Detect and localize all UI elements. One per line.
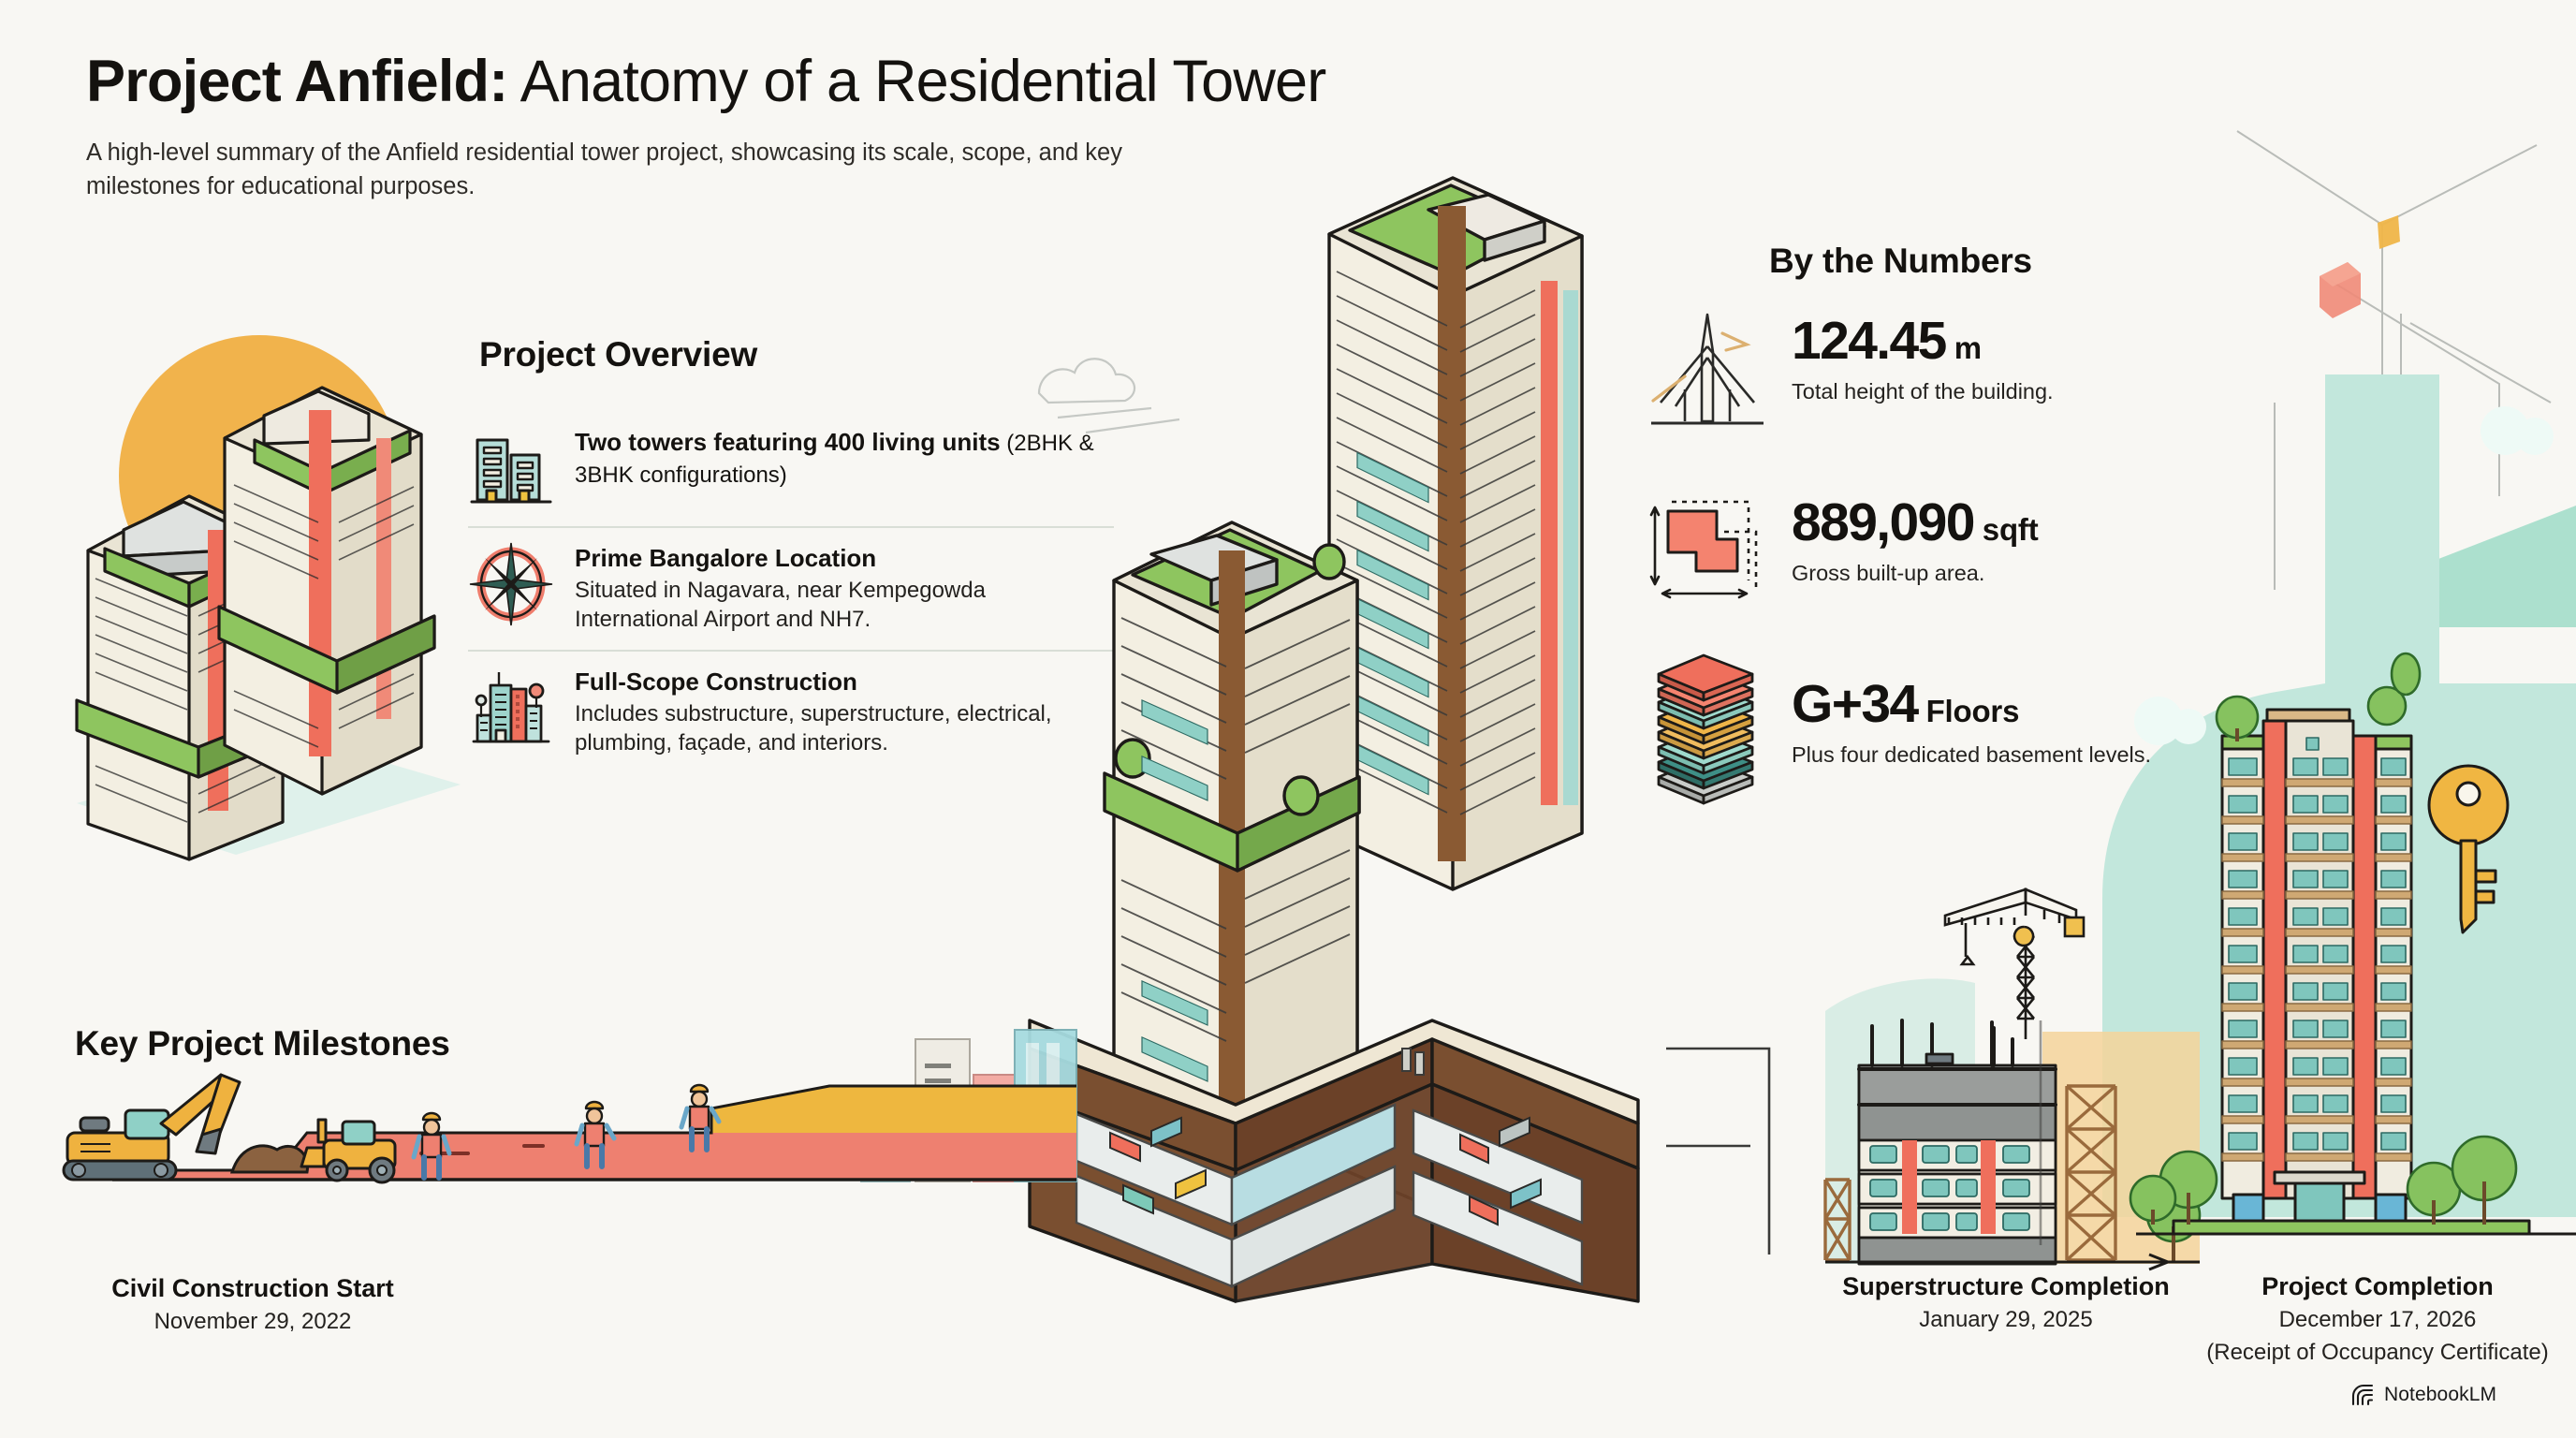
number-value-figure: 124.45: [1792, 311, 1946, 371]
infographic-canvas: Project Anfield: Anatomy of a Residentia…: [0, 0, 2576, 1438]
watermark-label: NotebookLM: [2384, 1384, 2496, 1406]
number-value-unit: sqft: [1974, 512, 2039, 547]
milestone-label-superstructure: Superstructure Completion January 29, 20…: [1833, 1271, 2179, 1334]
overview-item-location: Prime Bangalore Location Situated in Nag…: [468, 526, 1114, 650]
number-value-figure: G+34: [1792, 674, 1918, 734]
milestone-date: December 17, 2026: [2181, 1306, 2574, 1334]
number-item-text: G+34 Floors Plus four dedicated basement…: [1792, 672, 2151, 769]
central-tower-cutaway-illustration: [1020, 178, 1732, 1301]
spire-tower-icon: [1647, 309, 1767, 440]
compass-rose-icon: [468, 541, 554, 627]
title-light-part: Anatomy of a Residential Tower: [507, 49, 1325, 114]
golden-key-icon: [2429, 766, 2508, 932]
cloud-decoration: [1039, 359, 1179, 433]
milestone-label-civil-start: Civil Construction Start November 29, 20…: [56, 1273, 449, 1336]
number-value: 124.45 m: [1792, 315, 2054, 368]
milestone-title: Superstructure Completion: [1833, 1271, 2179, 1301]
milestone-note: (Receipt of Occupancy Certificate): [2181, 1339, 2574, 1367]
milestone-date: November 29, 2022: [56, 1308, 449, 1336]
overview-item-title-strong: Two towers featuring 400 living units: [575, 428, 1001, 456]
overview-heading: Project Overview: [479, 335, 757, 374]
numbers-heading: By the Numbers: [1769, 242, 2032, 281]
completed-tower-illustration: [2136, 655, 2576, 1264]
number-item-text: 124.45 m Total height of the building.: [1792, 309, 2054, 405]
overview-item-units: Two towers featuring 400 living units (2…: [468, 412, 1114, 526]
floorplate-area-icon: [1647, 491, 1767, 622]
two-buildings-icon: [468, 425, 554, 511]
number-value-figure: 889,090: [1792, 492, 1974, 552]
milestone-title: Project Completion: [2181, 1271, 2574, 1301]
twin-towers-illustration: [67, 298, 470, 859]
number-caption: Gross built-up area.: [1792, 559, 2039, 587]
stacked-layers-icon: [1647, 672, 1767, 803]
number-caption: Plus four dedicated basement levels.: [1792, 741, 2151, 769]
excavation-scene-illustration: [56, 1030, 1076, 1255]
timeline-connectors: [1666, 1020, 2190, 1283]
overview-list: Two towers featuring 400 living units (2…: [468, 412, 1114, 772]
page-subtitle: A high-level summary of the Anfield resi…: [86, 136, 1172, 203]
notebooklm-watermark: NotebookLM: [2351, 1384, 2496, 1406]
notebooklm-spiral-icon: [2351, 1384, 2376, 1406]
number-item-area: 889,090 sqft Gross built-up area.: [1647, 491, 2321, 672]
overview-item-scope: Full-Scope Construction Includes substru…: [468, 650, 1114, 773]
title-bold-part: Project Anfield:: [86, 49, 507, 114]
number-value: 889,090 sqft: [1792, 496, 2039, 550]
number-item-text: 889,090 sqft Gross built-up area.: [1792, 491, 2039, 587]
number-value: G+34 Floors: [1792, 678, 2151, 731]
number-value-unit: Floors: [1918, 694, 2020, 728]
milestone-title: Civil Construction Start: [56, 1273, 449, 1303]
number-caption: Total height of the building.: [1792, 377, 2054, 405]
number-value-unit: m: [1946, 330, 1982, 365]
page-title: Project Anfield: Anatomy of a Residentia…: [86, 49, 1340, 115]
construction-tower-icon: [468, 665, 554, 751]
number-item-height: 124.45 m Total height of the building.: [1647, 309, 2321, 491]
milestone-label-project-completion: Project Completion December 17, 2026 (Re…: [2181, 1271, 2574, 1367]
excavator-icon: [64, 1075, 240, 1180]
milestone-date: January 29, 2025: [1833, 1306, 2179, 1334]
